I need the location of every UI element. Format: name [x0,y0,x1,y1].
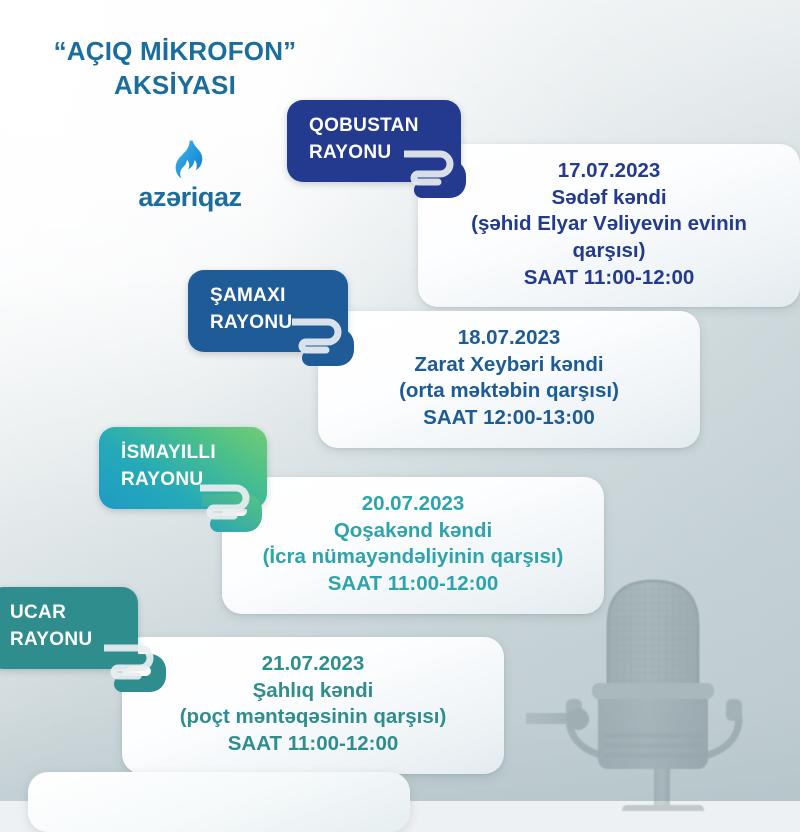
flame-icon [175,140,205,178]
page-title: “AÇIQ MİKROFON” AKSİYASI [0,34,350,103]
region-badge-ismayilli-line-1: İSMAYILLI [121,440,245,467]
brand-wordmark: azəriqaz [95,182,285,213]
event-village-4: Şahlıq kəndi [140,678,486,705]
event-village-1: Sədəf kəndi [436,185,782,212]
event-time-3: SAAT 11:00-12:00 [240,571,586,598]
connector-hook-1 [404,150,478,206]
event-card-2: 18.07.2023 Zarat Xeybəri kəndi (orta mək… [318,311,700,448]
event-date-3: 20.07.2023 [240,491,586,518]
event-date-1: 17.07.2023 [436,158,782,185]
connector-hook-3 [200,484,274,540]
event-card-3: 20.07.2023 Qoşakənd kəndi (İcra nümayənd… [222,477,604,614]
event-place-3: (İcra nümayəndəliyinin qarşısı) [240,544,586,571]
region-badge-ucar-line-2: RAYONU [10,627,116,654]
page-title-line-2: AKSİYASI [0,68,350,102]
region-badge-qobustan-line-1: QOBUSTAN [309,113,439,140]
region-badge-samaxi-line-1: ŞAMAXI [210,283,326,310]
event-time-2: SAAT 12:00-13:00 [336,405,682,432]
event-village-2: Zarat Xeybəri kəndi [336,352,682,379]
connector-hook-4 [104,644,178,700]
event-place-2: (orta məktəbin qarşısı) [336,378,682,405]
azeriqaz-logo: azəriqaz [95,140,285,213]
event-village-3: Qoşakənd kəndi [240,518,586,545]
event-place-1: (şəhid Elyar Vəliyevin evinin qarşısı) [436,211,782,264]
event-place-4: (poçt məntəqəsinin qarşısı) [140,704,486,731]
event-date-4: 21.07.2023 [140,651,486,678]
region-badge-ucar-line-1: UCAR [10,600,116,627]
event-date-2: 18.07.2023 [336,325,682,352]
page-title-line-1: “AÇIQ MİKROFON” [0,34,350,68]
event-card-partial [28,772,410,832]
event-time-4: SAAT 11:00-12:00 [140,731,486,758]
event-time-1: SAAT 11:00-12:00 [436,265,782,292]
event-card-4: 21.07.2023 Şahlıq kəndi (poçt məntəqəsin… [122,637,504,774]
connector-hook-2 [292,318,366,374]
